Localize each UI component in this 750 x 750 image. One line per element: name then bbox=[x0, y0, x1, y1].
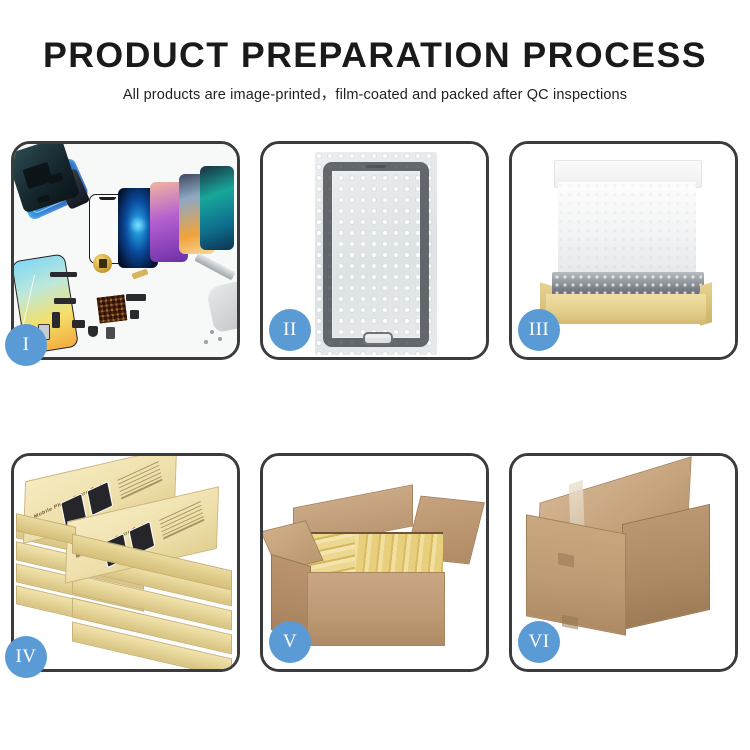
carton-right-face-icon bbox=[622, 504, 710, 630]
step-numeral-4: IV bbox=[5, 636, 47, 678]
kraft-box-stack-icon: Mobile Phone Spare Parts Mobile Phone Sp… bbox=[14, 456, 237, 669]
speaker-icon bbox=[88, 326, 98, 337]
page-title: PRODUCT PREPARATION PROCESS bbox=[0, 36, 750, 76]
gold-connector-icon bbox=[131, 268, 148, 279]
process-row-2: Mobile Phone Spare Parts Mobile Phone Sp… bbox=[11, 453, 739, 672]
header: PRODUCT PREPARATION PROCESS All products… bbox=[0, 36, 750, 105]
small-part-icon bbox=[130, 310, 139, 319]
screw-icon bbox=[218, 337, 222, 341]
flex-cable-icon bbox=[50, 272, 77, 277]
screw-icon bbox=[210, 330, 214, 334]
wrapped-screen-icon bbox=[323, 162, 429, 347]
camera-module-icon bbox=[72, 320, 85, 328]
flex-cable-icon bbox=[126, 294, 146, 301]
carton-front-face-icon bbox=[307, 572, 445, 646]
flex-cable-icon bbox=[54, 298, 76, 304]
step-numeral-3: III bbox=[518, 309, 560, 351]
battery-connector-icon bbox=[106, 327, 115, 339]
step-numeral-2: II bbox=[269, 309, 311, 351]
foam-insert-icon bbox=[558, 182, 696, 277]
step-panel-4: Mobile Phone Spare Parts Mobile Phone Sp… bbox=[11, 453, 240, 672]
kraft-box-front-icon bbox=[546, 294, 706, 324]
step-4-image: Mobile Phone Spare Parts Mobile Phone Sp… bbox=[14, 456, 237, 669]
step-panel-3: III bbox=[509, 141, 738, 360]
step-panel-5: V bbox=[260, 453, 489, 672]
step-numeral-1: I bbox=[5, 324, 47, 366]
step-numeral-5: V bbox=[269, 621, 311, 663]
hand-icon bbox=[206, 281, 237, 333]
step-panel-2: II bbox=[260, 141, 489, 360]
box-spec-lines bbox=[159, 501, 205, 542]
carton-handle-notch-icon bbox=[562, 614, 578, 629]
flex-cable-icon bbox=[52, 312, 60, 328]
box-spec-lines bbox=[117, 461, 163, 502]
chip-array-icon bbox=[97, 294, 128, 323]
bubble-wrap-icon bbox=[315, 152, 437, 355]
step-1-image bbox=[14, 144, 237, 357]
vibration-motor-icon bbox=[93, 254, 112, 273]
screw-icon bbox=[204, 340, 208, 344]
step-numeral-6: VI bbox=[518, 621, 560, 663]
teal-gradient-phone-icon bbox=[200, 166, 234, 250]
step-panel-1: I bbox=[11, 141, 240, 360]
tweezers-icon bbox=[194, 253, 235, 281]
page-subtitle: All products are image-printed，film-coat… bbox=[0, 85, 750, 105]
product-preparation-process-page: PRODUCT PREPARATION PROCESS All products… bbox=[0, 0, 750, 750]
process-steps-grid: I II bbox=[11, 141, 739, 672]
process-row-1: I II bbox=[11, 141, 739, 360]
step-panel-6: VI bbox=[509, 453, 738, 672]
